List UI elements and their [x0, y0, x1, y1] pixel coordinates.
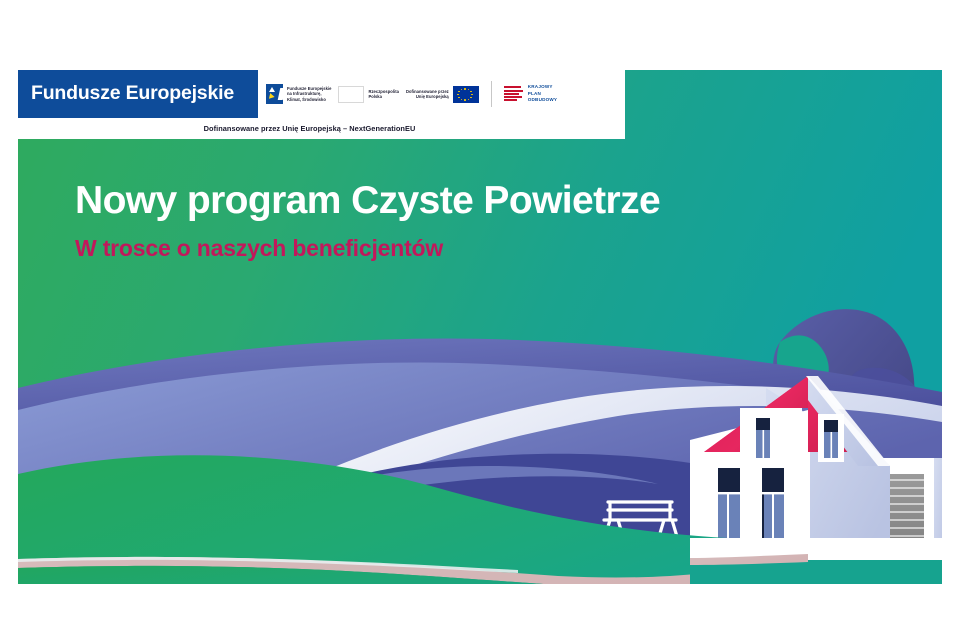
promo-banner: Fundusze Europejskie Fundusze Europejski… — [18, 70, 942, 584]
logo-rp-label: Rzeczpospolita Polska — [368, 89, 399, 100]
logo-rzeczpospolita-polska: Rzeczpospolita Polska — [338, 86, 399, 103]
funding-caption-bar: Dofinansowane przez Unię Europejską – Ne… — [18, 118, 625, 139]
page-root: Fundusze Europejskie Fundusze Europejski… — [0, 0, 960, 639]
dormer-box — [740, 408, 802, 456]
logo-fundusze-europejskie: Fundusze Europejskie na Infrastrukturę, … — [266, 84, 331, 104]
logo-kpo-label: KRAJOWY PLAN ODBUDOWY — [528, 84, 557, 103]
headline-block: Nowy program Czyste Powietrze W trosce o… — [75, 180, 660, 261]
partner-logos: Fundusze Europejskie na Infrastrukturę, … — [258, 70, 625, 118]
garage-floor-white — [808, 538, 942, 560]
funding-caption-text: Dofinansowane przez Unię Europejską – Ne… — [204, 124, 416, 133]
logo-ue-label: Dofinansowane przez Unię Europejską — [406, 89, 449, 100]
logo-strip-row: Fundusze Europejskie Fundusze Europejski… — [18, 70, 625, 118]
page-title: Nowy program Czyste Powietrze — [75, 180, 660, 222]
fe-stars-mark-icon — [266, 84, 283, 104]
logo-krajowy-plan-odbudowy: KRAJOWY PLAN ODBUDOWY — [504, 84, 557, 103]
logo-fe-label: Fundusze Europejskie na Infrastrukturę, … — [287, 86, 331, 102]
logo-divider — [491, 81, 492, 107]
front-window-left-transom — [718, 492, 740, 494]
landscape-illustration — [18, 70, 942, 584]
fundusze-europejskie-label: Fundusze Europejskie — [31, 84, 234, 104]
front-window-right-transom — [762, 492, 784, 494]
gable-window-split — [831, 432, 833, 458]
fundusze-europejskie-block: Fundusze Europejskie — [18, 70, 258, 118]
dormer-window-split — [763, 430, 765, 458]
polish-flag-icon — [338, 86, 364, 103]
eu-funding-logo-strip: Fundusze Europejskie Fundusze Europejski… — [18, 70, 625, 139]
eu-flag-icon — [453, 86, 479, 103]
kpo-mark-icon — [504, 85, 524, 102]
logo-dofinansowane-ue: Dofinansowane przez Unię Europejską — [406, 86, 479, 103]
page-subtitle: W trosce o naszych beneficjentów — [75, 236, 660, 261]
